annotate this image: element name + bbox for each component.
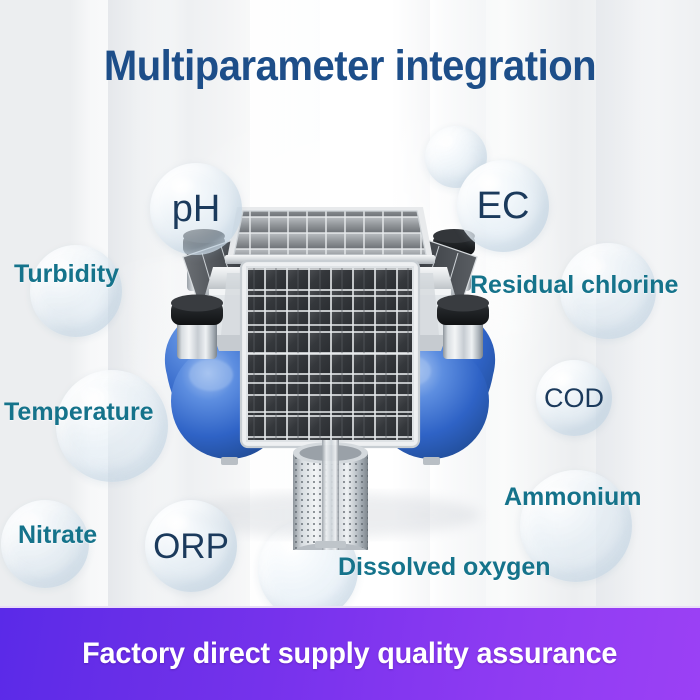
sensor-cage xyxy=(293,440,368,550)
parameter-label-ammonium: Ammonium xyxy=(504,483,642,512)
parameter-label-nitrate: Nitrate xyxy=(18,521,97,550)
parameter-bubble-label: COD xyxy=(544,385,604,412)
parameter-label-dissolved-oxygen: Dissolved oxygen xyxy=(338,553,551,582)
sensor-cylinder-front-right xyxy=(437,295,489,360)
sensor-cylinder-front-left xyxy=(171,295,223,360)
decorative-bubble xyxy=(30,245,122,337)
parameter-bubble-label: ORP xyxy=(153,529,229,564)
float-ball-left-foot xyxy=(221,457,238,465)
page-title: Multiparameter integration xyxy=(25,42,676,91)
parameter-label-turbidity: Turbidity xyxy=(14,260,119,289)
parameter-bubble-orp[interactable]: ORP xyxy=(145,500,237,592)
poster-canvas: pHECCODORP TurbidityResidual chlorineTem… xyxy=(0,0,700,700)
bottom-banner: Factory direct supply quality assurance xyxy=(0,606,700,700)
parameter-bubble-label: EC xyxy=(477,187,530,225)
parameter-bubble-label: pH xyxy=(172,190,221,228)
parameter-bubble-ph[interactable]: pH xyxy=(150,163,242,255)
banner-text: Factory direct supply quality assurance xyxy=(82,637,617,671)
float-ball-right-foot xyxy=(423,457,440,465)
parameter-bubble-cod[interactable]: COD xyxy=(536,360,612,436)
main-solar-panel xyxy=(241,261,419,447)
parameter-label-residual-chlorine: Residual chlorine xyxy=(470,271,678,300)
mast-foot xyxy=(315,541,346,548)
top-solar-panel xyxy=(225,207,435,264)
parameter-bubble-ec[interactable]: EC xyxy=(457,160,549,252)
parameter-label-temperature: Temperature xyxy=(4,398,154,427)
background-band xyxy=(596,0,660,700)
